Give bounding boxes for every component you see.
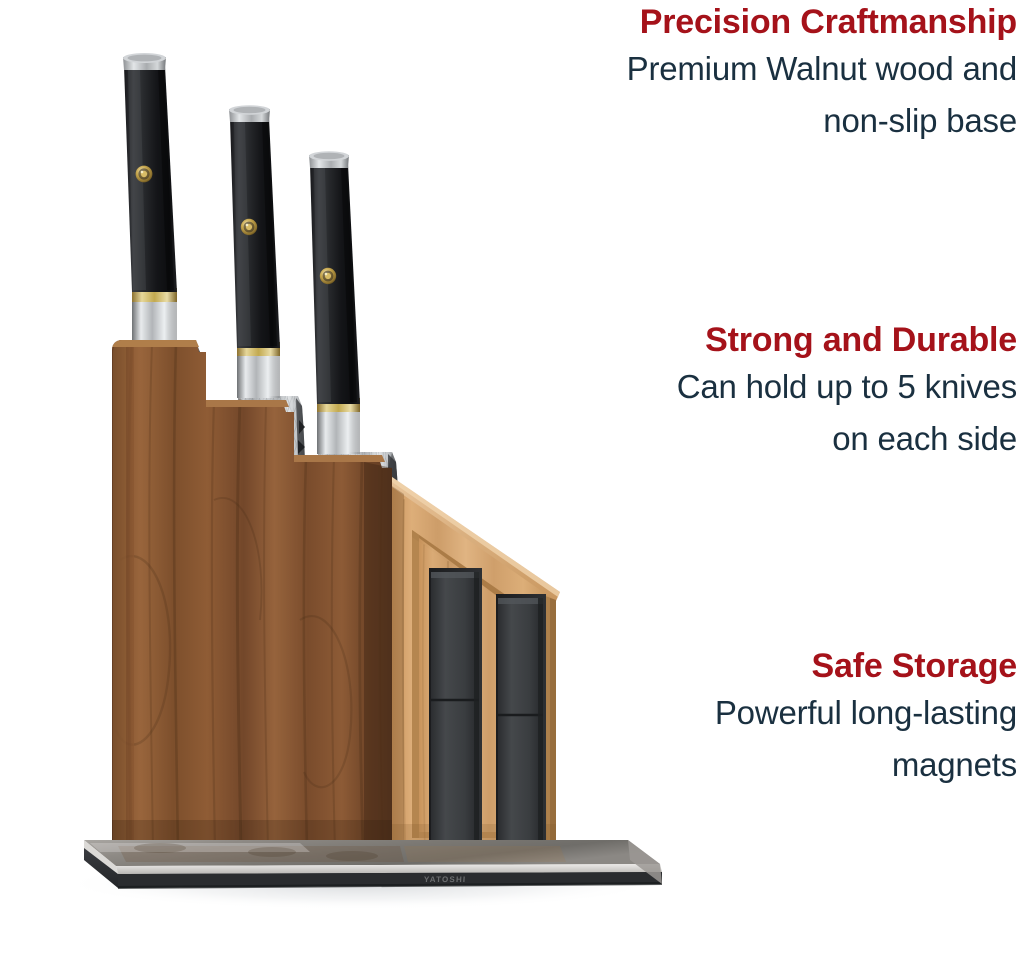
svg-text:YATOSHI: YATOSHI xyxy=(424,875,467,884)
chef-rivet xyxy=(136,166,153,183)
product-photo: YATOSHI xyxy=(0,0,700,969)
magnet-strip-1 xyxy=(429,568,482,843)
magnet-strip-2 xyxy=(496,594,546,843)
feature-line: Powerful long-lasting xyxy=(715,687,1017,739)
marketing-image: YATOSHI xyxy=(0,0,1031,969)
feature-block-precision-craftmanship: Precision Craftmanship Premium Walnut wo… xyxy=(627,1,1017,147)
chef-bolster xyxy=(132,300,177,346)
block-step-top-2 xyxy=(206,400,289,407)
bread-bolster xyxy=(237,354,280,398)
santoku-rivet xyxy=(320,268,336,284)
feature-heading: Strong and Durable xyxy=(677,319,1017,361)
feature-heading: Safe Storage xyxy=(715,645,1017,687)
feature-line: Can hold up to 5 knives xyxy=(677,361,1017,413)
feature-block-safe-storage: Safe Storage Powerful long-lasting magne… xyxy=(715,645,1017,791)
feature-heading: Precision Craftmanship xyxy=(627,1,1017,43)
feature-line: Premium Walnut wood and xyxy=(627,43,1017,95)
feature-block-strong-and-durable: Strong and Durable Can hold up to 5 kniv… xyxy=(677,319,1017,465)
feature-line: magnets xyxy=(715,739,1017,791)
feature-line: non-slip base xyxy=(627,95,1017,147)
block-step-top-3 xyxy=(294,455,385,462)
santoku-bolster xyxy=(317,410,360,454)
base-brand-emboss: YATOSHI xyxy=(424,875,467,884)
feature-line: on each side xyxy=(677,413,1017,465)
bread-rivet xyxy=(241,219,257,235)
